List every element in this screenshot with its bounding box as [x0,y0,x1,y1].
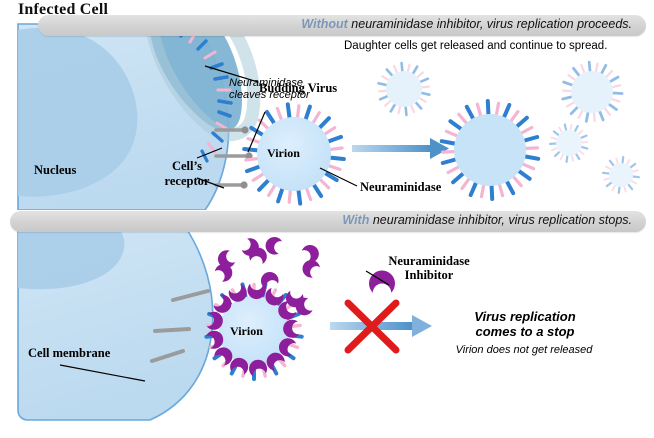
banner-without-text: Without neuraminidase inhibitor, virus r… [301,17,632,31]
banner-with-text: With neuraminidase inhibitor, virus repl… [342,213,632,227]
diagram-canvas: Infected Cell [0,0,654,438]
label-stop-line1: Virus replication [430,309,620,324]
bottom-panel-cell-group [18,228,213,420]
label-inhibitor-line2: Inhibitor [364,268,494,283]
label-cells-receptor-line1: Cell’s [155,159,219,174]
banner-with-keyword: With [342,213,369,227]
label-stop-line2: comes to a stop [430,324,620,339]
virus-particle-icon-daughter-c [550,125,587,162]
label-virion-top: Virion [267,146,300,161]
label-neuraminidase: Neuraminidase [360,180,441,195]
caption-daughter-cells: Daughter cells get released and continue… [344,40,607,52]
label-cell-membrane: Cell membrane [28,346,110,361]
banner-with-rest: neuraminidase inhibitor, virus replicati… [369,213,632,227]
virus-particle-icon-daughter-a [379,63,430,115]
virus-particle-icon-daughter-d [603,157,639,193]
label-cleaves-receptor-line1: Neuraminidase [229,77,303,89]
virus-particle-icon-daughter-b [563,62,622,121]
label-virion-not-released: Virion does not get released [424,344,624,356]
label-cleaves-receptor-line2: cleaves receptor [229,89,310,101]
banner-with: With neuraminidase inhibitor, virus repl… [10,211,646,232]
virus-particle-icon-daughter-large [442,101,538,199]
banner-without-rest: neuraminidase inhibitor, virus replicati… [348,17,632,31]
label-virion-bottom: Virion [230,324,263,339]
label-inhibitor-line1: Neuraminidase [364,254,494,269]
label-cells-receptor-line2: receptor [152,174,222,189]
crescent-inhibitor-icon [301,259,321,279]
banner-without: Without neuraminidase inhibitor, virus r… [38,15,646,36]
banner-without-keyword: Without [301,17,347,31]
label-nucleus: Nucleus [34,163,76,178]
arrow-right-icon-top [352,138,449,159]
